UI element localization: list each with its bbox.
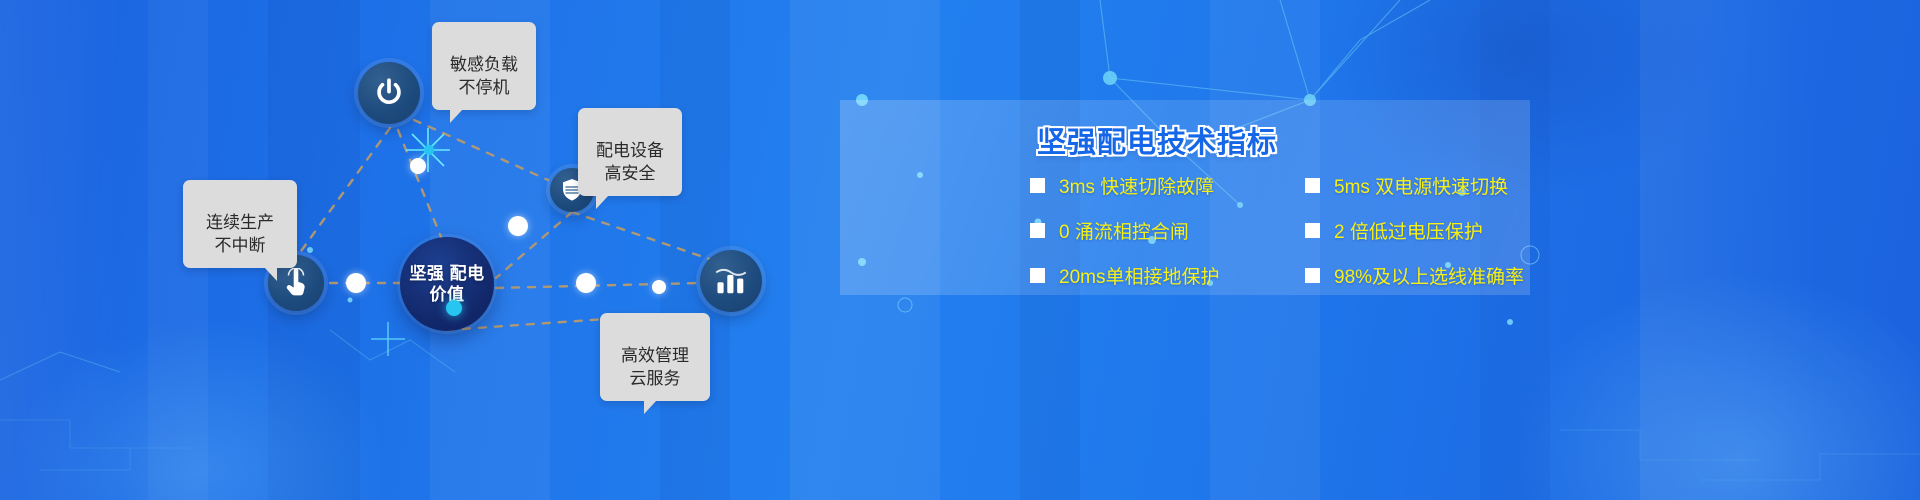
callout-label: 高效管理 云服务 xyxy=(621,346,689,388)
banner-root: 坚强 配电 价值 敏感负载 不停机 配电设备 高安全 连续生产 不中断 高效管理… xyxy=(0,0,1920,500)
link-dot xyxy=(424,145,434,155)
bullet-square-icon xyxy=(1305,178,1320,193)
callout-sensitive-load[interactable]: 敏感负载 不停机 xyxy=(432,22,536,110)
bar-chart-icon xyxy=(715,266,747,296)
node-power[interactable] xyxy=(358,62,420,124)
center-label: 坚强 配电 价值 xyxy=(400,263,494,305)
link-dot xyxy=(446,300,462,316)
callout-label: 连续生产 不中断 xyxy=(206,213,274,255)
bullet-square-icon xyxy=(1305,268,1320,283)
spec-text: 20ms单相接地保护 xyxy=(1059,262,1219,289)
bullet-square-icon xyxy=(1030,268,1045,283)
spec-item: 0 涌流相控合闸 xyxy=(1030,217,1305,244)
spec-item: 5ms 双电源快速切换 xyxy=(1305,172,1520,199)
spec-text: 5ms 双电源快速切换 xyxy=(1334,172,1508,199)
bullet-square-icon xyxy=(1030,223,1045,238)
panel-title: 坚强配电技术指标 xyxy=(1037,119,1277,161)
power-icon xyxy=(372,76,406,110)
spec-item: 3ms 快速切除故障 xyxy=(1030,172,1305,199)
spec-item: 20ms单相接地保护 xyxy=(1030,262,1305,289)
callout-label: 敏感负载 不停机 xyxy=(450,55,518,97)
bullet-square-icon xyxy=(1030,178,1045,193)
spec-item: 98%及以上选线准确率 xyxy=(1305,262,1520,289)
callout-equipment-safety[interactable]: 配电设备 高安全 xyxy=(578,108,682,196)
link-dot xyxy=(652,280,666,294)
spec-item: 2 倍低过电压保护 xyxy=(1305,217,1520,244)
link-dot xyxy=(346,273,366,293)
diagram-center-node: 坚强 配电 价值 xyxy=(400,237,494,331)
link-dot xyxy=(576,273,596,293)
link-dot xyxy=(410,158,426,174)
touch-icon xyxy=(282,268,310,298)
callout-cloud-management[interactable]: 高效管理 云服务 xyxy=(600,313,710,401)
network-diagram: 坚强 配电 价值 敏感负载 不停机 配电设备 高安全 连续生产 不中断 高效管理… xyxy=(0,0,840,500)
bullet-square-icon xyxy=(1305,223,1320,238)
spec-text: 3ms 快速切除故障 xyxy=(1059,172,1214,199)
node-bar-chart[interactable] xyxy=(700,250,762,312)
spec-text: 0 涌流相控合闸 xyxy=(1059,217,1189,244)
spec-text: 98%及以上选线准确率 xyxy=(1334,262,1524,289)
callout-continuous-production[interactable]: 连续生产 不中断 xyxy=(183,180,297,268)
spec-text: 2 倍低过电压保护 xyxy=(1334,217,1483,244)
spec-list: 3ms 快速切除故障 5ms 双电源快速切换 0 涌流相控合闸 2 倍低过电压保… xyxy=(1030,172,1520,289)
link-dot xyxy=(508,216,528,236)
callout-label: 配电设备 高安全 xyxy=(596,141,664,183)
